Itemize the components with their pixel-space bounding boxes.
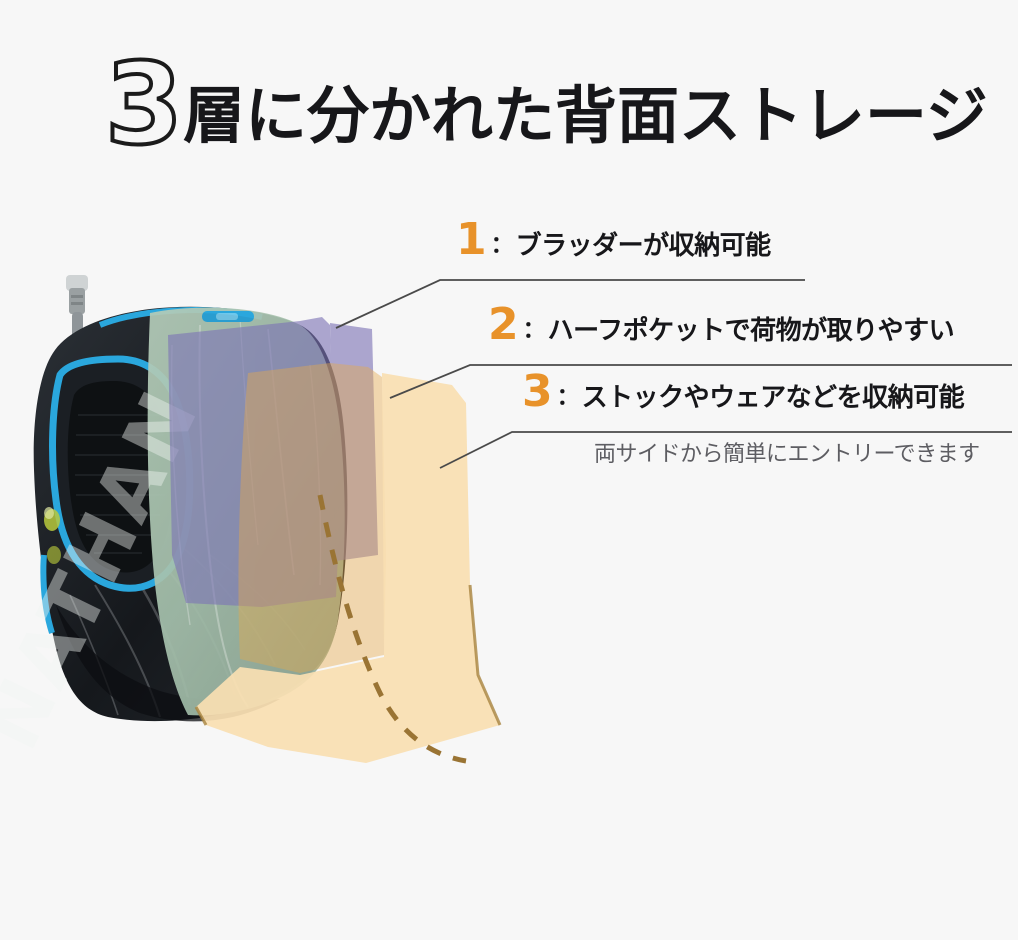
title-numeral: 3 bbox=[105, 54, 181, 157]
annotation-2-label: ハーフポケットで荷物が取りやすい bbox=[548, 310, 954, 347]
annotation-3: 3 ： ストックやウェアなどを収納可能 bbox=[522, 370, 964, 414]
page-title: 3 層に分かれた背面ストレージ bbox=[105, 38, 986, 153]
annotation-2-separator: ： bbox=[523, 310, 546, 344]
infographic-page: 3 層に分かれた背面ストレージ bbox=[0, 0, 1018, 940]
annotation-2: 2 ： ハーフポケットで荷物が取りやすい bbox=[488, 303, 954, 347]
page-title-text: 層に分かれた背面ストレージ bbox=[183, 85, 988, 147]
annotation-2-number: 2 bbox=[488, 303, 518, 347]
annotation-1-number: 1 bbox=[456, 218, 486, 262]
annotation-3-separator: ： bbox=[557, 377, 580, 411]
annotation-3-label: ストックやウェアなどを収納可能 bbox=[582, 377, 965, 414]
annotation-3-sublabel: 両サイドから簡単にエントリーできます bbox=[594, 436, 980, 468]
annotation-1: 1 ： ブラッダーが収納可能 bbox=[456, 218, 771, 262]
annotation-1-label: ブラッダーが収納可能 bbox=[516, 225, 771, 262]
annotation-3-number: 3 bbox=[522, 370, 552, 414]
annotation-1-separator: ： bbox=[491, 225, 514, 259]
